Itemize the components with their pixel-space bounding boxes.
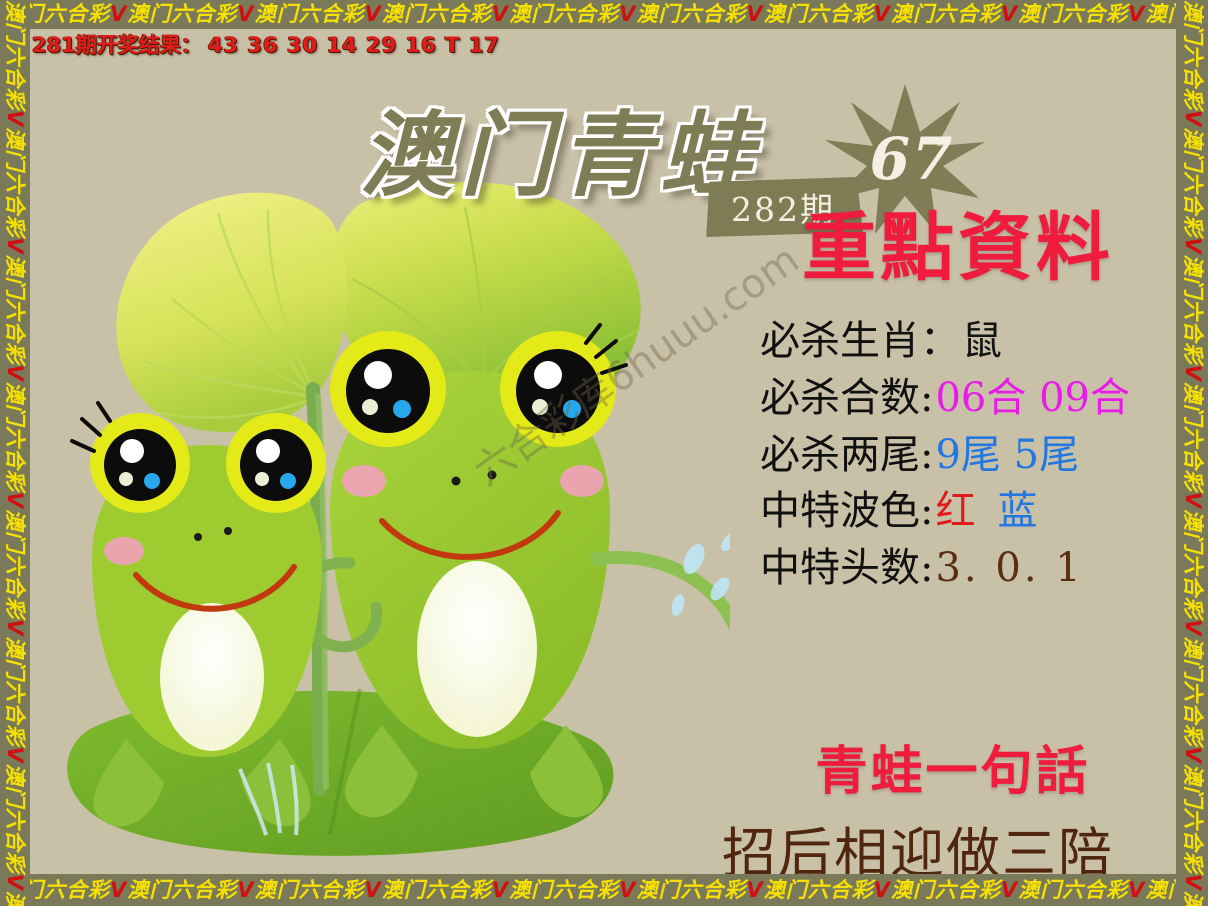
phrase-body: 招后相迎做三陪 xyxy=(660,809,1176,874)
row-tails-value: 9尾 5尾 xyxy=(935,432,1079,478)
row-head-label: 中特头数: xyxy=(760,545,933,591)
poster-stage: 281期开奖结果：43 36 30 14 29 16 T 17 67 澳门青蛙 … xyxy=(30,29,1176,874)
row-tails: 必杀两尾:9尾 5尾 xyxy=(760,427,1176,484)
row-color-label: 中特波色: xyxy=(760,488,933,534)
border-bottom: 澳门六合彩V澳门六合彩V澳门六合彩V澳门六合彩V澳门六合彩V澳门六合彩V澳门六合… xyxy=(0,874,1208,906)
row-sum-value: 06合 09合 xyxy=(935,375,1130,421)
row-head: 中特头数:3. 0. 1 xyxy=(760,540,1176,597)
border-right: 澳门六合彩V澳门六合彩V澳门六合彩V澳门六合彩V澳门六合彩V澳门六合彩V澳门六合… xyxy=(1176,0,1208,906)
row-color-value-red: 红 xyxy=(935,488,975,534)
page-title: 澳门青蛙 xyxy=(360,81,760,214)
draw-result-bar: 281期开奖结果：43 36 30 14 29 16 T 17 xyxy=(32,29,500,59)
border-left-text: 澳门六合彩V澳门六合彩V澳门六合彩V澳门六合彩V澳门六合彩V澳门六合彩V澳门六合… xyxy=(0,0,30,906)
row-color-value-blue: 蓝 xyxy=(997,488,1037,534)
border-bottom-text: 澳门六合彩V澳门六合彩V澳门六合彩V澳门六合彩V澳门六合彩V澳门六合彩V澳门六合… xyxy=(0,878,1208,902)
phrase-heading: 青蛙一句話 xyxy=(730,729,1176,804)
row-zodiac-label: 必杀生肖： xyxy=(760,318,960,364)
poster-canvas: 澳门六合彩V澳门六合彩V澳门六合彩V澳门六合彩V澳门六合彩V澳门六合彩V澳门六合… xyxy=(0,0,1208,906)
row-sum-label: 必杀合数: xyxy=(760,375,933,421)
key-info-panel: 重點資料 必杀生肖：鼠 必杀合数:06合 09合 必杀两尾:9尾 5尾 中特波色… xyxy=(730,199,1176,597)
border-top: 澳门六合彩V澳门六合彩V澳门六合彩V澳门六合彩V澳门六合彩V澳门六合彩V澳门六合… xyxy=(0,0,1208,29)
border-left: 澳门六合彩V澳门六合彩V澳门六合彩V澳门六合彩V澳门六合彩V澳门六合彩V澳门六合… xyxy=(0,0,30,906)
row-color: 中特波色:红蓝 xyxy=(760,483,1176,540)
panel-heading: 重點資料 xyxy=(730,199,1176,293)
draw-result-numbers: 43 36 30 14 29 16 T 17 xyxy=(208,33,500,57)
draw-result-label: 281期开奖结果： xyxy=(32,33,202,57)
border-right-text: 澳门六合彩V澳门六合彩V澳门六合彩V澳门六合彩V澳门六合彩V澳门六合彩V澳门六合… xyxy=(1178,0,1208,906)
row-tails-label: 必杀两尾: xyxy=(760,432,933,478)
row-sum: 必杀合数:06合 09合 xyxy=(760,370,1176,427)
row-head-value: 3. 0. 1 xyxy=(935,545,1083,591)
row-zodiac-value: 鼠 xyxy=(962,318,1002,364)
border-top-text: 澳门六合彩V澳门六合彩V澳门六合彩V澳门六合彩V澳门六合彩V澳门六合彩V澳门六合… xyxy=(0,2,1208,26)
panel-rows: 必杀生肖：鼠 必杀合数:06合 09合 必杀两尾:9尾 5尾 中特波色:红蓝 中… xyxy=(730,313,1176,597)
row-zodiac: 必杀生肖：鼠 xyxy=(760,313,1176,370)
